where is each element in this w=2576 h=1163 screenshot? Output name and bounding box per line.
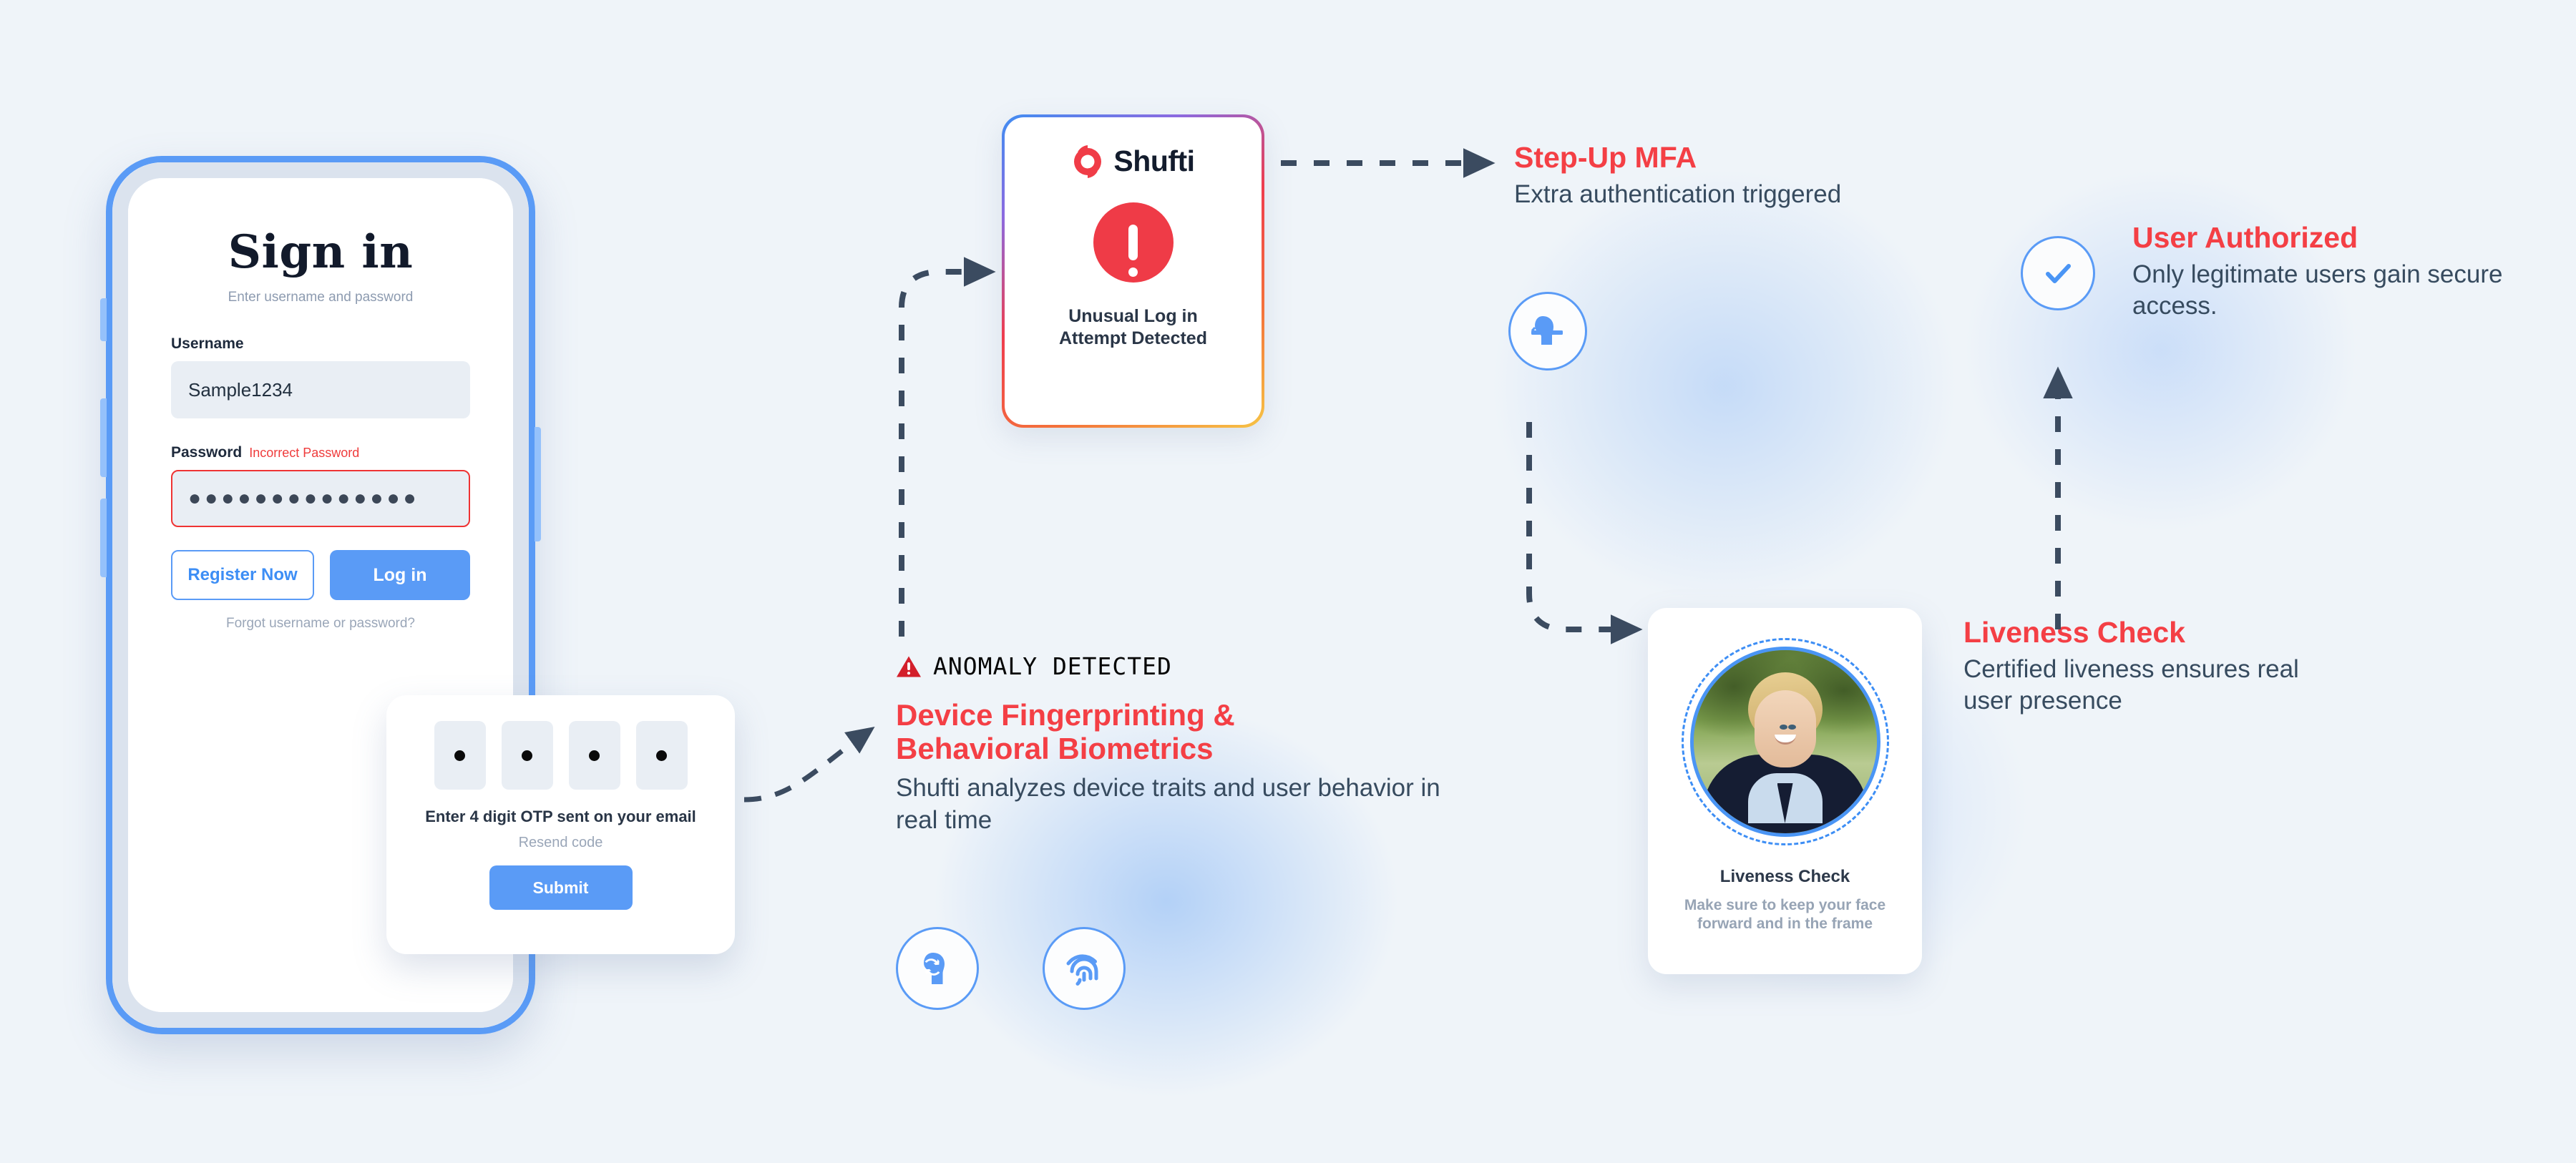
photo-face — [1755, 690, 1816, 767]
page-subtitle: Enter username and password — [171, 290, 470, 305]
device-fingerprinting-title-line2: Behavioral Biometrics — [896, 732, 1468, 765]
behavioral-head-glyph — [914, 946, 960, 991]
exclamation-glyph — [1128, 225, 1138, 260]
device-fingerprinting-title-line1: Device Fingerprinting & — [896, 698, 1468, 732]
avatar — [1690, 647, 1880, 837]
liveness-card-subtitle-line2: forward and in the frame — [1697, 916, 1873, 932]
password-label: Password — [171, 444, 242, 461]
username-label: Username — [171, 335, 470, 353]
arrow-otp-to-device — [744, 733, 866, 800]
password-label-row: Password Incorrect Password — [171, 444, 470, 461]
device-fingerprinting-block: ANOMALY DETECTED Device Fingerprinting &… — [896, 652, 1468, 836]
liveness-check-block: Liveness Check Certified liveness ensure… — [1963, 617, 2307, 717]
shufti-card-inner: Shufti Unusual Log in Attempt Detected — [1005, 117, 1262, 425]
forgot-credentials-link[interactable]: Forgot username or password? — [171, 616, 470, 632]
password-error-text: Incorrect Password — [249, 446, 359, 461]
face-scan-glyph — [1526, 309, 1570, 353]
device-fingerprinting-description: Shufti analyzes device traits and user b… — [896, 772, 1468, 836]
exclamation-circle-icon — [1093, 202, 1174, 283]
otp-dot-icon — [522, 750, 532, 761]
otp-dot-icon — [454, 750, 465, 761]
liveness-photo-frame — [1682, 638, 1889, 845]
shufti-mark-icon — [1071, 145, 1104, 178]
password-input[interactable]: ●●●●●●●●●●●●●● — [171, 470, 470, 527]
otp-digit-4[interactable] — [636, 721, 688, 790]
otp-instruction-label: Enter 4 digit OTP sent on your email — [386, 808, 735, 826]
username-input[interactable]: Sample1234 — [171, 361, 470, 418]
otp-submit-button[interactable]: Submit — [489, 865, 633, 910]
phone-silent-switch[interactable] — [100, 298, 107, 341]
shufti-alert-caption-line2: Attempt Detected — [1059, 328, 1207, 350]
user-authorized-title: User Authorized — [2132, 222, 2504, 255]
otp-input-group — [386, 721, 735, 790]
flow-diagram-canvas: Sign in Enter username and password User… — [0, 0, 2576, 1163]
password-masked-value: ●●●●●●●●●●●●●● — [188, 488, 420, 509]
warning-triangle-icon — [896, 655, 922, 678]
face-scan-icon — [1508, 292, 1587, 371]
fingerprint-glyph — [1061, 946, 1107, 991]
anomaly-detected-badge: ANOMALY DETECTED — [896, 652, 1468, 680]
step-up-mfa-description: Extra authentication triggered — [1514, 179, 1886, 210]
shufti-alert-caption: Unusual Log in Attempt Detected — [1059, 305, 1207, 350]
phone-volume-up-button[interactable] — [100, 398, 107, 477]
phone-power-button[interactable] — [535, 427, 541, 541]
check-icon — [2021, 236, 2095, 310]
shufti-alert-card: Shufti Unusual Log in Attempt Detected — [1002, 114, 1264, 428]
arrow-mfa-to-liveness — [1529, 422, 1630, 629]
liveness-check-title: Liveness Check — [1963, 617, 2307, 649]
behavioral-head-icon — [896, 927, 979, 1010]
liveness-check-description: Certified liveness ensures real user pre… — [1963, 654, 2307, 717]
photo-eye-left — [1780, 725, 1787, 730]
liveness-card-subtitle-line1: Make sure to keep your face — [1684, 897, 1885, 913]
signin-button-row: Register Now Log in — [171, 550, 470, 600]
page-title: Sign in — [171, 230, 470, 275]
register-now-button[interactable]: Register Now — [171, 550, 314, 600]
check-glyph — [2039, 254, 2077, 293]
background-glow-authorized — [1889, 100, 2433, 601]
photo-shirt — [1748, 773, 1823, 823]
step-up-mfa-title: Step-Up MFA — [1514, 142, 1886, 175]
otp-card: Enter 4 digit OTP sent on your email Res… — [386, 695, 735, 954]
otp-digit-3[interactable] — [569, 721, 620, 790]
otp-digit-2[interactable] — [502, 721, 553, 790]
liveness-check-card: Liveness Check Make sure to keep your fa… — [1648, 608, 1922, 974]
resend-code-link[interactable]: Resend code — [386, 835, 735, 851]
otp-dot-icon — [589, 750, 600, 761]
photo-eye-right — [1788, 725, 1796, 730]
log-in-button[interactable]: Log in — [330, 550, 470, 600]
phone-volume-down-button[interactable] — [100, 499, 107, 577]
user-authorized-block: User Authorized Only legitimate users ga… — [2132, 222, 2504, 323]
liveness-card-subtitle: Make sure to keep your face forward and … — [1648, 896, 1922, 933]
device-fingerprinting-title: Device Fingerprinting & Behavioral Biome… — [896, 698, 1468, 765]
user-authorized-description: Only legitimate users gain secure access… — [2132, 259, 2504, 323]
anomaly-detected-text: ANOMALY DETECTED — [933, 652, 1172, 680]
photo-smile — [1775, 735, 1796, 745]
shufti-wordmark: Shufti — [1113, 144, 1194, 178]
liveness-card-title: Liveness Check — [1648, 867, 1922, 887]
shufti-logo: Shufti — [1071, 144, 1194, 178]
otp-digit-1[interactable] — [434, 721, 486, 790]
step-up-mfa-block: Step-Up MFA Extra authentication trigger… — [1514, 142, 1886, 210]
fingerprint-icon — [1043, 927, 1126, 1010]
arrow-anomaly-to-shufti — [902, 272, 983, 637]
otp-dot-icon — [656, 750, 667, 761]
shufti-alert-caption-line1: Unusual Log in — [1059, 305, 1207, 328]
